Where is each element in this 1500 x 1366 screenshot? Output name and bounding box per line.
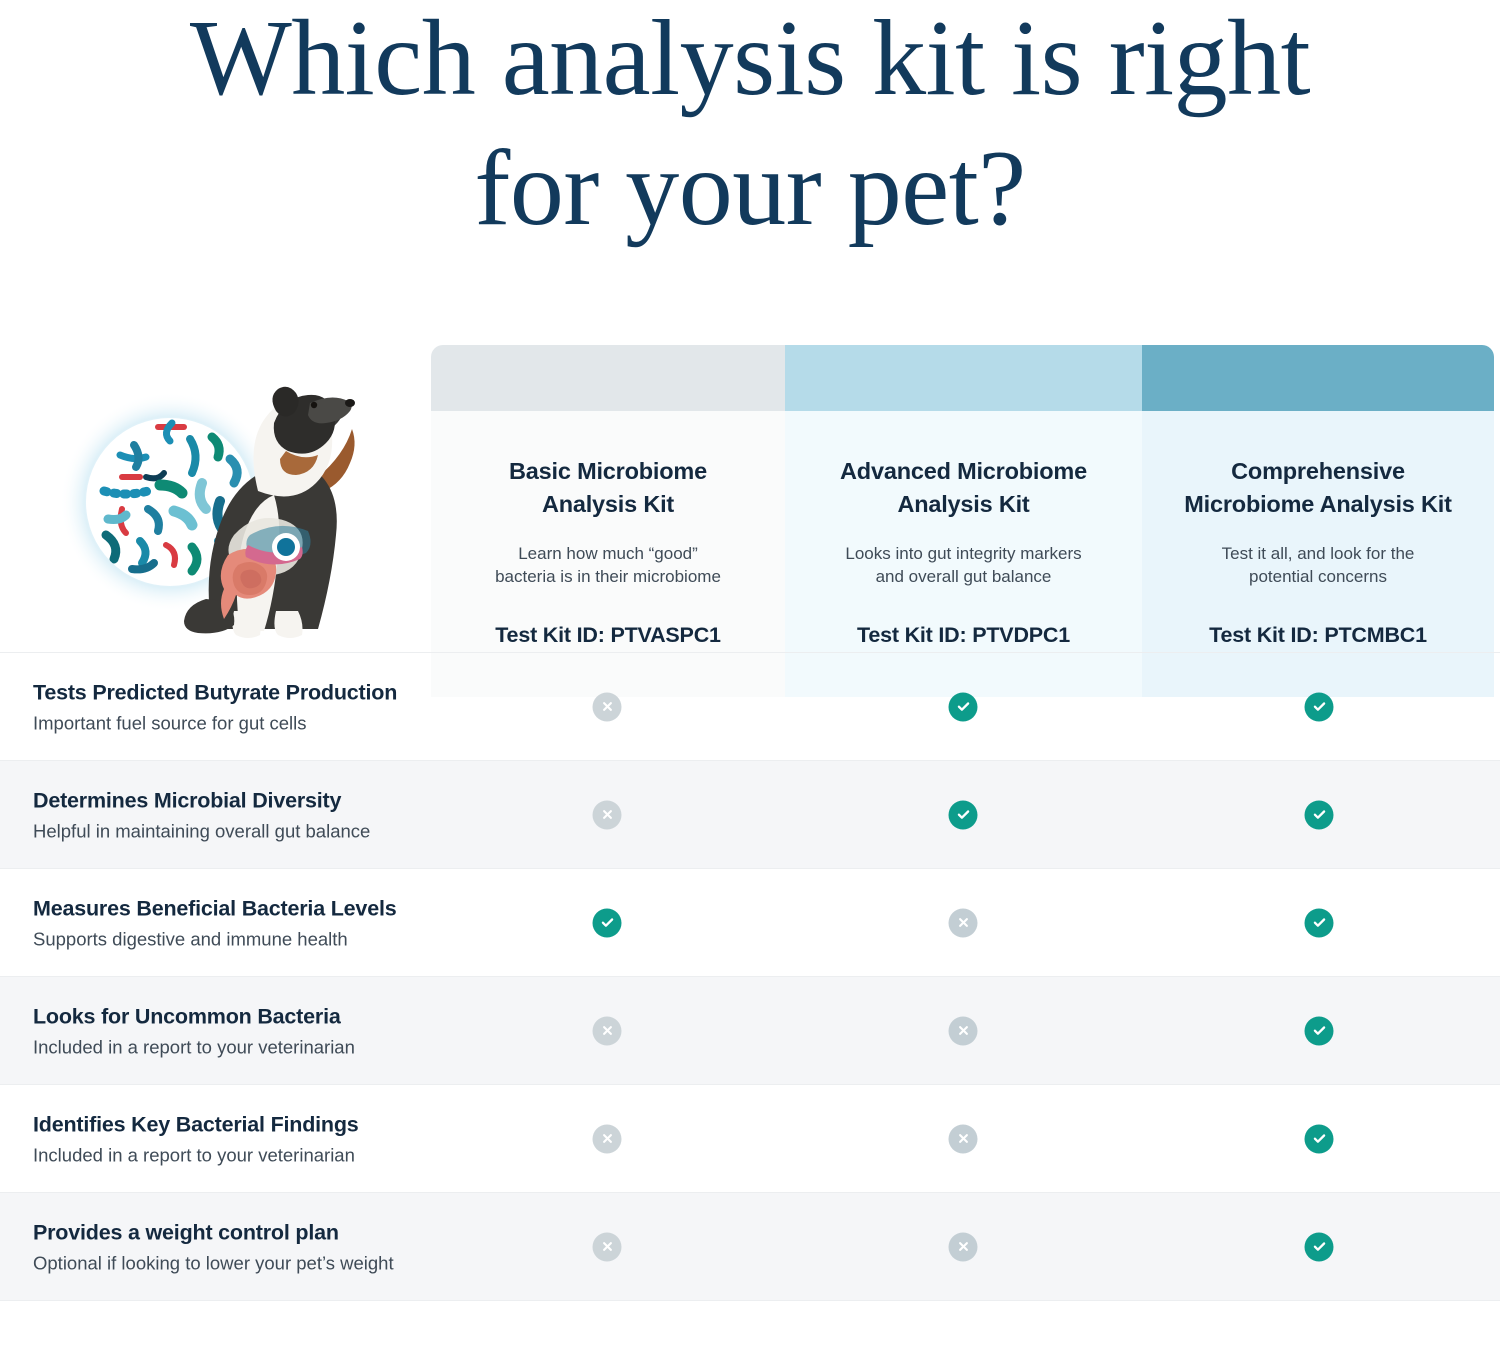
cross-circle-icon bbox=[949, 1232, 978, 1261]
feature-cell: Measures Beneficial Bacteria LevelsSuppo… bbox=[33, 894, 396, 951]
table-row: Looks for Uncommon BacteriaIncluded in a… bbox=[0, 976, 1500, 1084]
kit-id-advanced: Test Kit ID: PTVDPC1 bbox=[811, 622, 1116, 649]
feature-title: Looks for Uncommon Bacteria bbox=[33, 1002, 355, 1031]
kit-name-basic: Basic Microbiome Analysis Kit bbox=[457, 455, 759, 521]
column-band-comprehensive bbox=[1142, 345, 1494, 411]
feature-cell: Tests Predicted Butyrate ProductionImpor… bbox=[33, 678, 397, 735]
table-row: Identifies Key Bacterial FindingsInclude… bbox=[0, 1084, 1500, 1192]
kit-id-basic: Test Kit ID: PTVASPC1 bbox=[457, 622, 759, 649]
kit-name-line-2: Analysis Kit bbox=[897, 491, 1029, 517]
column-band-advanced bbox=[785, 345, 1142, 411]
kit-name-comprehensive: Comprehensive Microbiome Analysis Kit bbox=[1168, 455, 1468, 521]
table-row: Determines Microbial DiversityHelpful in… bbox=[0, 760, 1500, 868]
cross-circle-icon bbox=[949, 908, 978, 937]
feature-subtitle: Supports digestive and immune health bbox=[33, 926, 396, 951]
kit-desc-line-2: potential concerns bbox=[1249, 567, 1387, 586]
feature-title: Identifies Key Bacterial Findings bbox=[33, 1110, 359, 1139]
cross-circle-icon bbox=[949, 1016, 978, 1045]
kit-name-line-1: Comprehensive bbox=[1231, 458, 1405, 484]
feature-subtitle: Included in a report to your veterinaria… bbox=[33, 1034, 355, 1059]
cross-circle-icon bbox=[593, 1232, 622, 1261]
feature-cell: Identifies Key Bacterial FindingsInclude… bbox=[33, 1110, 359, 1167]
comparison-page: Which analysis kit is right for your pet… bbox=[0, 0, 1500, 1366]
kit-name-line-1: Advanced Microbiome bbox=[840, 458, 1087, 484]
kit-desc-basic: Learn how much “good” bacteria is in the… bbox=[457, 542, 759, 588]
feature-rows: Tests Predicted Butyrate ProductionImpor… bbox=[0, 652, 1500, 1366]
kit-id-comprehensive: Test Kit ID: PTCMBC1 bbox=[1168, 622, 1468, 649]
table-row: Measures Beneficial Bacteria LevelsSuppo… bbox=[0, 868, 1500, 976]
page-title-line-1: Which analysis kit is right bbox=[190, 0, 1310, 118]
page-title: Which analysis kit is right for your pet… bbox=[0, 0, 1500, 254]
kit-desc-line-2: and overall gut balance bbox=[876, 567, 1052, 586]
check-circle-icon bbox=[1305, 1232, 1334, 1261]
check-circle-icon bbox=[593, 908, 622, 937]
cross-circle-icon bbox=[593, 1016, 622, 1045]
kit-name-line-2: Analysis Kit bbox=[542, 491, 674, 517]
cross-circle-icon bbox=[593, 800, 622, 829]
kit-desc-comprehensive: Test it all, and look for the potential … bbox=[1168, 542, 1468, 588]
feature-title: Provides a weight control plan bbox=[33, 1218, 394, 1247]
check-circle-icon bbox=[1305, 800, 1334, 829]
check-circle-icon bbox=[1305, 692, 1334, 721]
cross-circle-icon bbox=[593, 692, 622, 721]
cross-circle-icon bbox=[593, 1124, 622, 1153]
table-row: Provides a weight control planOptional i… bbox=[0, 1192, 1500, 1300]
kit-desc-line-1: Test it all, and look for the bbox=[1222, 544, 1415, 563]
kit-desc-line-1: Looks into gut integrity markers bbox=[845, 544, 1081, 563]
column-band-basic bbox=[431, 345, 785, 411]
check-circle-icon bbox=[1305, 908, 1334, 937]
check-circle-icon bbox=[1305, 1124, 1334, 1153]
feature-subtitle: Important fuel source for gut cells bbox=[33, 710, 397, 735]
test-tube-color-label: Test Tube Color bbox=[33, 1361, 190, 1366]
feature-subtitle: Helpful in maintaining overall gut balan… bbox=[33, 818, 370, 843]
kit-desc-advanced: Looks into gut integrity markers and ove… bbox=[811, 542, 1116, 588]
kit-name-advanced: Advanced Microbiome Analysis Kit bbox=[811, 455, 1116, 521]
dog-microbiome-illustration bbox=[62, 359, 402, 659]
feature-title: Measures Beneficial Bacteria Levels bbox=[33, 894, 396, 923]
comparison-table: Basic Microbiome Analysis Kit Learn how … bbox=[0, 345, 1500, 1366]
kit-desc-line-2: bacteria is in their microbiome bbox=[495, 567, 721, 586]
page-title-line-2: for your pet? bbox=[0, 124, 1500, 254]
feature-cell: Looks for Uncommon BacteriaIncluded in a… bbox=[33, 1002, 355, 1059]
feature-subtitle: Included in a report to your veterinaria… bbox=[33, 1142, 359, 1167]
check-circle-icon bbox=[1305, 1016, 1334, 1045]
check-circle-icon bbox=[949, 692, 978, 721]
table-row: Tests Predicted Butyrate ProductionImpor… bbox=[0, 652, 1500, 760]
test-tube-color-row: Test Tube ColorWhiteBluePink bbox=[0, 1300, 1500, 1366]
feature-title: Determines Microbial Diversity bbox=[33, 786, 370, 815]
feature-cell: Provides a weight control planOptional i… bbox=[33, 1218, 394, 1275]
kit-desc-line-1: Learn how much “good” bbox=[518, 544, 698, 563]
check-circle-icon bbox=[949, 800, 978, 829]
cross-circle-icon bbox=[949, 1124, 978, 1153]
feature-subtitle: Optional if looking to lower your pet’s … bbox=[33, 1250, 394, 1275]
kit-name-line-2: Microbiome Analysis Kit bbox=[1184, 491, 1451, 517]
feature-title: Tests Predicted Butyrate Production bbox=[33, 678, 397, 707]
feature-cell: Determines Microbial DiversityHelpful in… bbox=[33, 786, 370, 843]
kit-name-line-1: Basic Microbiome bbox=[509, 458, 707, 484]
